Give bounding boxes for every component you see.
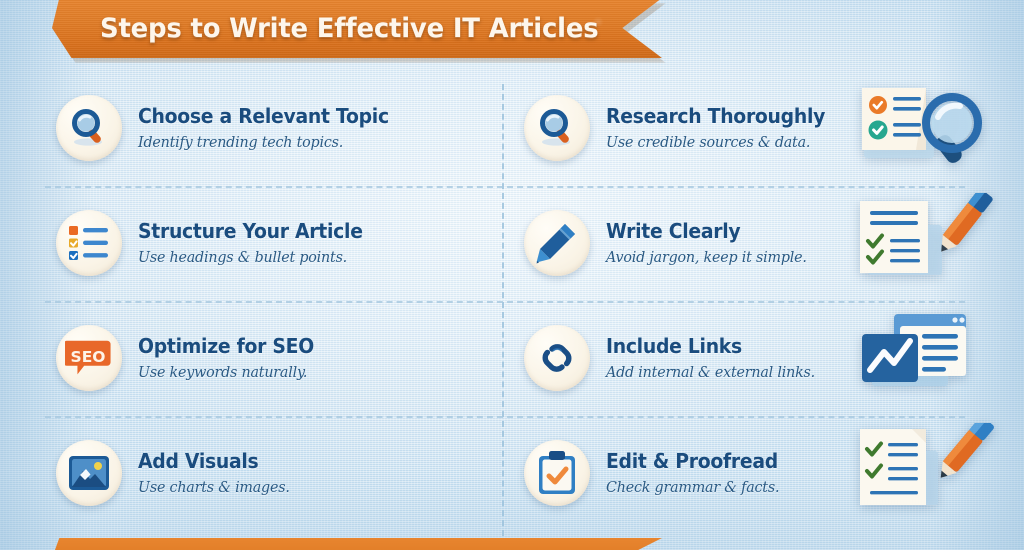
seo-speech-bubble-icon: SEO [56, 325, 122, 391]
step-subtitle: Identify trending tech topics. [138, 133, 391, 151]
step-text: Edit & Proofread Check grammar & facts. [606, 450, 789, 496]
step-item[interactable]: Include Links Add internal & external li… [502, 300, 1024, 415]
step-text: Add Visuals Use charts & images. [138, 450, 298, 496]
step-item[interactable]: SEO Optimize for SEO Use keywords natura… [0, 300, 500, 415]
step-subtitle: Check grammar & facts. [606, 478, 780, 496]
magnifier-icon [524, 95, 590, 161]
step-item[interactable]: Edit & Proofread Check grammar & facts. [502, 415, 1024, 530]
banner-ribbon: Steps to Write Effective IT Articles [52, 0, 662, 58]
step-text: Structure Your Article Use headings & bu… [138, 220, 377, 266]
step-title: Include Links [606, 335, 813, 358]
step-title: Optimize for SEO [138, 335, 314, 358]
checklist-icon [56, 210, 122, 276]
step-title: Choose a Relevant Topic [138, 105, 389, 128]
step-text: Include Links Add internal & external li… [606, 335, 826, 381]
step-text: Optimize for SEO Use keywords naturally. [138, 335, 325, 381]
chain-link-icon [524, 325, 590, 391]
step-title: Add Visuals [138, 450, 288, 473]
step-subtitle: Use headings & bullet points. [138, 248, 365, 266]
step-title: Structure Your Article [138, 220, 363, 243]
step-subtitle: Use keywords naturally. [138, 363, 316, 381]
svg-text:SEO: SEO [71, 348, 106, 366]
clipboard-check-icon [524, 440, 590, 506]
image-picture-icon [56, 440, 122, 506]
checklist-pencil-art [848, 423, 998, 523]
magnifier-icon [56, 95, 122, 161]
step-item[interactable]: Write Clearly Avoid jargon, keep it simp… [502, 185, 1024, 300]
step-title: Research Thoroughly [606, 105, 825, 128]
steps-grid: Choose a Relevant Topic Identify trendin… [0, 66, 1024, 536]
step-item[interactable]: Research Thoroughly Use credible sources… [502, 70, 1024, 185]
document-checks-magnifier-art [848, 78, 998, 178]
step-text: Research Thoroughly Use credible sources… [606, 105, 839, 151]
pencil-icon [524, 210, 590, 276]
step-subtitle: Use charts & images. [138, 478, 290, 496]
bottom-banner [52, 538, 662, 550]
step-subtitle: Use credible sources & data. [606, 133, 827, 151]
step-text: Choose a Relevant Topic Identify trendin… [138, 105, 405, 151]
step-item[interactable]: Structure Your Article Use headings & bu… [0, 185, 500, 300]
step-subtitle: Avoid jargon, keep it simple. [606, 248, 807, 266]
step-item[interactable]: Choose a Relevant Topic Identify trendin… [0, 70, 500, 185]
step-subtitle: Add internal & external links. [606, 363, 815, 381]
page-title: Steps to Write Effective IT Articles [100, 13, 598, 44]
step-title: Write Clearly [606, 220, 805, 243]
title-banner: Steps to Write Effective IT Articles [52, 0, 662, 58]
step-item[interactable]: Add Visuals Use charts & images. [0, 415, 500, 530]
document-pencil-checks-art [848, 193, 998, 293]
step-title: Edit & Proofread [606, 450, 778, 473]
browser-window-chart-art [848, 308, 998, 408]
step-text: Write Clearly Avoid jargon, keep it simp… [606, 220, 817, 266]
